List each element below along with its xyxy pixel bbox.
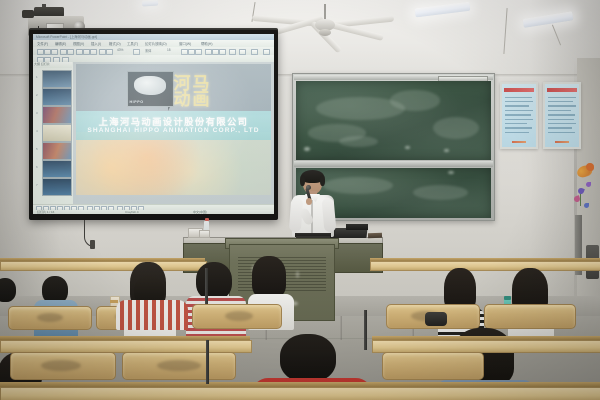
slide-thumbnail-panel[interactable]: 大纲 幻灯片 1 2 3 4 5 6 [33,62,74,204]
status-design-name: Crayfish.4 [125,210,139,214]
hippo-logo-mark [134,76,166,95]
backpack [425,312,447,326]
menu-item-window[interactable]: 窗口(W) [179,41,191,46]
status-language: 中文(中国) [193,210,207,214]
font-size[interactable]: 18 [167,48,171,52]
thumbnail-number: 4 [36,129,38,133]
thumbnail-number: 7 [36,183,38,187]
slide-thumbnail[interactable]: 1 [42,70,72,88]
zoom-value[interactable]: 43% [117,48,123,52]
butterfly-sticker [586,163,594,171]
menu-item-insert[interactable]: 插入(I) [91,41,101,46]
menu-item-tools[interactable]: 工具(T) [127,41,138,46]
menu-item-help[interactable]: 帮助(H) [201,41,213,46]
status-slide-counter: 幻灯片 1 / 16 [37,210,54,214]
bench-backrest [122,352,236,380]
regulations-poster-left [500,82,538,149]
bench-backrest [484,304,576,329]
poster-header [547,88,577,92]
menu-item-format[interactable]: 格式(O) [109,41,121,46]
thumbnail-number: 1 [36,75,38,79]
projection-screen: Microsoft PowerPoint - [上海河马动画.ppt] 文件(F… [33,34,274,214]
menu-item-edit[interactable]: 编辑(E) [55,41,66,46]
screen-plug [90,240,95,249]
thumbnail-number: 3 [36,111,38,115]
poster-header [504,88,534,92]
presenter-hand [306,198,312,205]
desk-surface [0,387,600,400]
slide-title-english: SHANGHAI HIPPO ANIMATION CORP., LTD [76,127,271,134]
bottle-cap [205,218,209,221]
mouse-cursor [168,107,170,111]
panel-tabs[interactable]: 大纲 幻灯片 [34,62,72,68]
flower-sticker [584,203,589,208]
menu-item-slideshow[interactable]: 幻灯片放映(D) [145,41,167,46]
fluorescent-light [142,0,158,7]
projector-knob [22,10,34,18]
slide-thumbnail[interactable]: 3 [42,106,72,124]
bench-backrest [192,304,282,329]
paper-cup-band [110,300,118,303]
thumbnail-number: 5 [36,147,38,151]
current-slide[interactable]: HIPPO 河马 动画 上海河马动画设计股份有限公司 SHANGHAI HIPP… [76,64,271,195]
font-name[interactable]: 宋体 [145,48,151,53]
desk-surface [370,261,600,271]
thumbnail-number: 2 [36,93,38,97]
blackboard-middle-rail [294,161,493,167]
regulations-poster-right [543,82,581,149]
thumbnail-number: 6 [36,165,38,169]
bottle-cap [504,296,511,300]
slide-thumbnail[interactable]: 6 [42,160,72,178]
poster-footer [555,141,569,144]
presenter-arm-right [322,198,337,233]
bench-backrest [10,352,116,380]
slide-thumbnail[interactable]: 5 [42,142,72,160]
powerpoint-window: Microsoft PowerPoint - [上海河马动画.ppt] 文件(F… [33,34,274,214]
microphone-head [306,185,311,190]
desk-surface [0,261,207,271]
slide-thumbnail[interactable]: 2 [42,88,72,106]
paper-cup [199,230,210,238]
menu-item-file[interactable]: 文件(F) [37,41,48,46]
desk-leg [206,340,209,384]
slide-thumbnail[interactable]: 4 [42,124,72,142]
powerpoint-statusbar: 幻灯片 1 / 16 Crayfish.4 中文(中国) [33,210,274,214]
slide-thumbnail[interactable]: 7 [42,178,72,196]
desk-leg [205,268,208,304]
menu-item-view[interactable]: 视图(V) [73,41,84,46]
brand-chinese-line2: 动画 [174,85,212,110]
bench-backrest [8,306,92,330]
fan-rod [324,4,326,20]
hippo-logo-text: HIPPO [129,100,143,104]
hippo-logo: HIPPO [127,71,174,107]
book [368,233,382,238]
presenter [289,172,337,247]
poster-footer [512,141,526,144]
ceiling-fan [260,4,390,52]
flower-sticker [586,182,591,187]
slide-bokeh-image [76,132,271,195]
slide-stage: HIPPO 河马 动画 上海河马动画设计股份有限公司 SHANGHAI HIPP… [73,62,274,204]
blackboard-panel-upper [296,81,491,160]
presenter-hair-side [320,175,325,186]
laptop-screen [346,224,368,230]
fan-light [319,29,331,36]
desk-leg [364,310,367,350]
bench-backrest [382,352,484,380]
presenter-hair-side [300,175,305,186]
classroom-scene: Microsoft PowerPoint - [上海河马动画.ppt] 文件(F… [0,0,600,400]
